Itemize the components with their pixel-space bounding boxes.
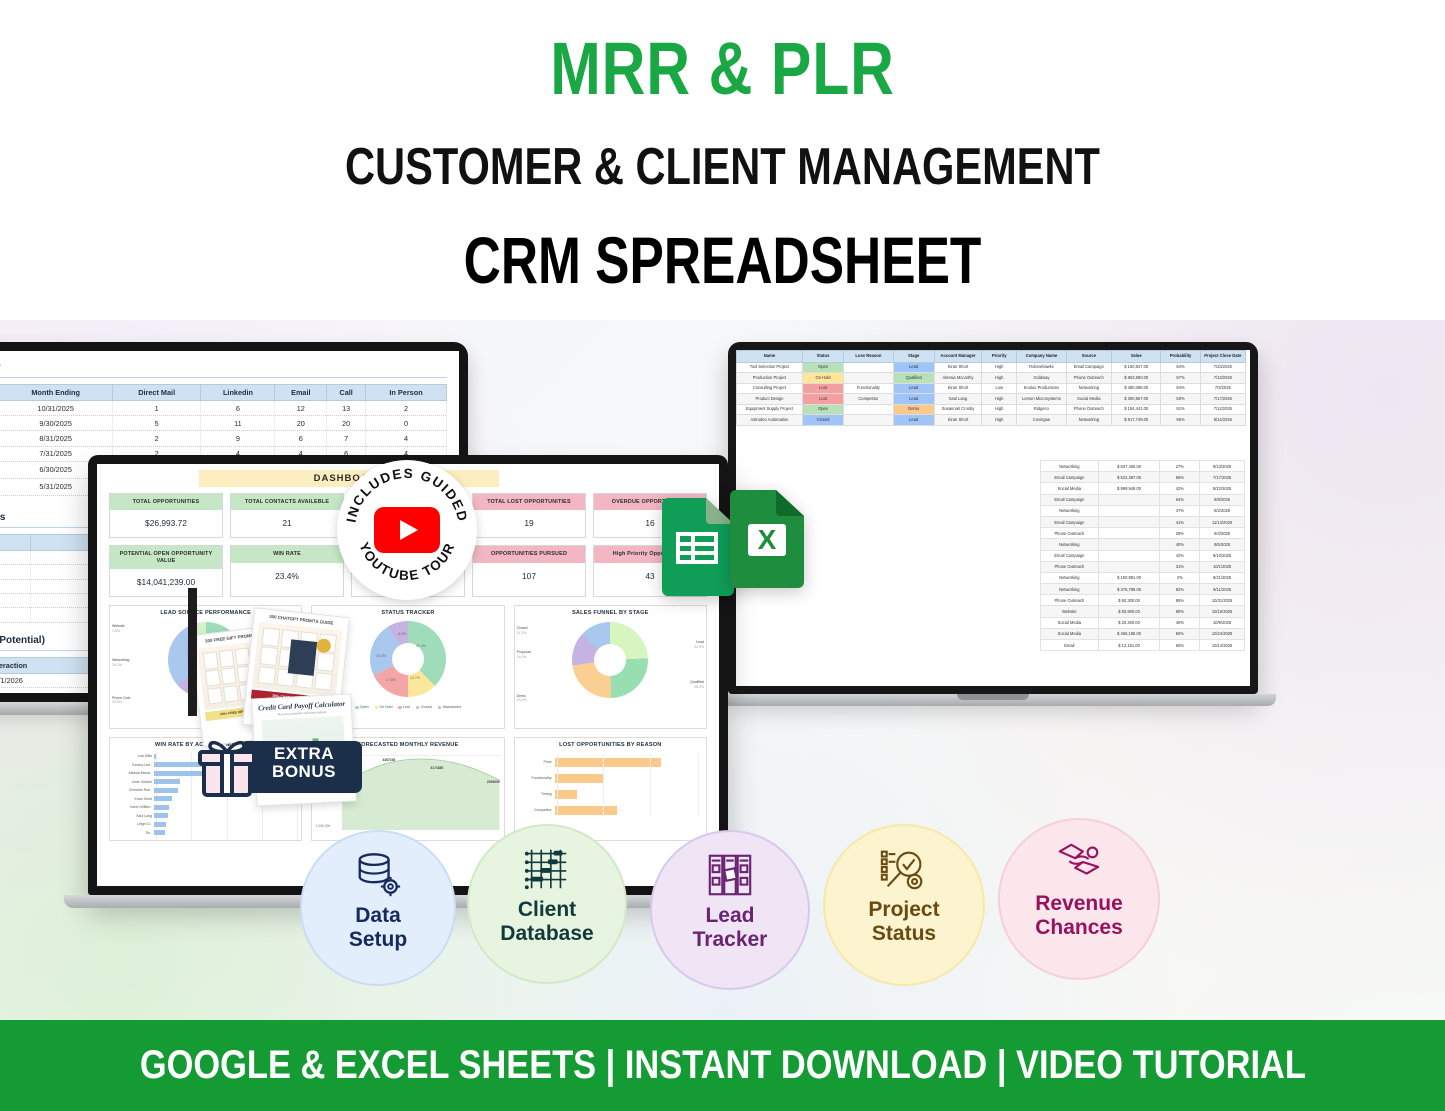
cell-name: Astrodeo Automation	[737, 415, 803, 425]
cell-account-manager: Kiran Short	[934, 415, 981, 425]
cell-priority: High	[982, 362, 1017, 372]
cell-value: $ 853,590.00	[1112, 373, 1161, 383]
table-row[interactable]: Email Campaign$ 522,387.0059%7/17/2025	[1041, 472, 1245, 483]
cell-account-manager: Alessia Mccarthy	[934, 373, 981, 383]
table-row[interactable]: Website$ 83,900.0080%10/19/2025	[1041, 606, 1245, 617]
col-account-manager[interactable]: Account Manager	[934, 351, 981, 363]
table-row[interactable]: Phone Outreach$ 60,300.0095%10/31/2025	[1041, 595, 1245, 606]
table-row[interactable]: Consulting Project Lost Functionality Le…	[737, 383, 1246, 393]
cell-source: Networking	[1066, 415, 1111, 425]
cell-status: Lost	[802, 383, 843, 393]
google-sheets-icon[interactable]	[660, 498, 734, 596]
cell-company: Kooloo Productions	[1017, 383, 1066, 393]
table-row[interactable]: Equipment Supply Project Open Demo Susan…	[737, 404, 1246, 414]
feature-label: Revenue Chances	[1000, 892, 1158, 939]
col-priority[interactable]: Priority	[982, 351, 1017, 363]
kpi-label: TOTAL LOST OPPORTUNITIES	[473, 494, 585, 510]
table-row[interactable]: Email Campaign41%11/13/2025	[1041, 516, 1245, 527]
cell-stage: Lead	[893, 383, 934, 393]
table-row[interactable]: 8/1/20258/31/202529674	[0, 431, 447, 446]
footer-text: GOOGLE & EXCEL SHEETS | INSTANT DOWNLOAD…	[140, 1043, 1306, 1088]
col-loss-reason[interactable]: Loss Reason	[844, 351, 893, 363]
legend-on-hold[interactable]: On Hold	[375, 705, 393, 709]
col-linkedin[interactable]: Linkedin	[201, 385, 275, 401]
feature-lead-tracker[interactable]: Lead Tracker	[650, 830, 810, 990]
bonus-card-preview	[252, 622, 342, 696]
table-row[interactable]: Social Media$ 20,300.0040%10/9/2025	[1041, 617, 1245, 628]
table-row[interactable]: Social Media$ 466,186.0050%10/24/2025	[1041, 628, 1245, 639]
table-row[interactable]: 10/1/202510/31/20251612132	[0, 401, 447, 416]
table-row[interactable]: Product Design Lost Competitor Lead Saul…	[737, 394, 1246, 404]
opportunity-table-body: Tool Selection Project Open Lead Kiran S…	[737, 362, 1246, 425]
col-direct-mail[interactable]: Direct Mail	[112, 385, 201, 401]
col-close-date[interactable]: Project Close Date	[1200, 351, 1245, 363]
donut-wrap: Lead24.3% Qualified25.2% Demo23.2% Propo…	[515, 618, 706, 712]
feature-circles: Data Setup	[0, 818, 1445, 1018]
cell-loss-reason	[844, 415, 893, 425]
cell-probability: 84%	[1161, 362, 1200, 372]
cell-company: Covingae	[1017, 415, 1066, 425]
kpi-card-total-contacts[interactable]: TOTAL CONTACTS AVAILEBLE 21	[230, 493, 344, 538]
svg-text:X: X	[758, 524, 777, 555]
cell-priority: High	[982, 404, 1017, 414]
donut-sales-funnel	[572, 622, 648, 698]
excel-icon[interactable]: X	[730, 490, 804, 588]
extra-bonus-badge[interactable]: EXTRA BONUS	[188, 730, 363, 802]
feature-data-setup[interactable]: Data Setup	[300, 830, 456, 986]
cell-company: Lemon Microsystems	[1017, 394, 1066, 404]
youtube-tour-badge[interactable]: INCLUDES GUIDED YOUTUBE TOUR	[337, 460, 477, 600]
chart-gridlines	[557, 754, 698, 816]
cell-loss-reason	[844, 373, 893, 383]
donut-label-demo: Demo23.2%	[517, 694, 527, 703]
feature-label: Project Status	[825, 898, 983, 945]
cell-close-date: 7/13/2025	[1200, 373, 1245, 383]
bonus-product-stack: 300 FREE GIFT PROMPTS 300+ FREE GIFT PRO…	[196, 610, 336, 800]
listing-image: MRR & PLR CUSTOMER & CLIENT MANAGEMENT C…	[0, 0, 1445, 1111]
table-header-row: Interaction Month Ending Direct Mail Lin…	[0, 385, 447, 401]
cell-close-date: 7/12/2025	[1200, 404, 1245, 414]
cell-account-manager: Kiran Short	[934, 362, 981, 372]
col-status[interactable]: Status	[802, 351, 843, 363]
donut-label-phone-outreach: Phone Outr..23.9%	[112, 696, 132, 705]
kpi-card-opportunities-pursued[interactable]: OPPORTUNITIES PURSUED 107	[472, 545, 586, 597]
cell-probability: 96%	[1161, 415, 1200, 425]
kpi-value: 21	[231, 510, 343, 537]
feature-label: Data Setup	[302, 904, 454, 951]
chart-sales-funnel-by-stage[interactable]: SALES FUNNEL BY STAGE Lead24.3% Qualifie…	[514, 605, 707, 729]
cell-probability: 83%	[1161, 394, 1200, 404]
data-label-3: 3171885	[430, 766, 443, 770]
handshake-money-icon	[1054, 838, 1104, 888]
cell-status: Lost	[802, 394, 843, 404]
cell-account-manager: Saul Lang	[934, 394, 981, 404]
cell-source: Networking	[1066, 383, 1111, 393]
kpi-card-potential-open-value[interactable]: POTENTIAL OPEN OPPORTUNITY VALUE $14,041…	[109, 545, 223, 597]
cell-company: Goldway	[1017, 373, 1066, 383]
donut-value-closed: 23.4%	[376, 654, 386, 658]
table-row[interactable]: Networking$ 837,455.0027%9/13/2025	[1041, 461, 1245, 472]
feature-label: Lead Tracker	[652, 904, 808, 951]
donut-value-abandoned: 8.3%	[398, 632, 406, 636]
cell-priority: High	[982, 373, 1017, 383]
kpi-label: WIN RATE	[231, 546, 343, 562]
cell-close-date: 7/3/2025	[1200, 383, 1245, 393]
table-row[interactable]: Email$ 13,151.0060%10/14/2025	[1041, 640, 1245, 651]
cell-loss-reason	[844, 362, 893, 372]
table-row[interactable]: Social Media$ 999,946.0042%8/22/2025	[1041, 483, 1245, 494]
cell-company: Robinehawks	[1017, 362, 1066, 372]
cell-source: Phone Outreach	[1066, 404, 1111, 414]
cell-priority: High	[982, 394, 1017, 404]
table-row[interactable]: Phone Outreach29%9/4/2025	[1041, 528, 1245, 539]
data-label-4: 2395695	[487, 780, 500, 784]
opportunity-table: Name Status Loss Reason Stage Account Ma…	[736, 350, 1246, 426]
cell-probability: 81%	[1161, 404, 1200, 414]
col-probability[interactable]: Probability	[1161, 351, 1200, 363]
table-row[interactable]: Networking40%9/5/2025	[1041, 539, 1245, 550]
chart-title: LOST OPPORTUNITIES BY REASON	[515, 738, 706, 750]
feature-project-status[interactable]: Project Status	[823, 824, 985, 986]
spreadsheet-grid-icon	[522, 844, 572, 894]
youtube-play-icon[interactable]	[374, 507, 440, 553]
kpi-label: TOTAL CONTACTS AVAILEBLE	[231, 494, 343, 510]
opportunity-table-continuation: Networking$ 837,455.0027%9/13/2025 Email…	[1040, 460, 1245, 700]
table-row[interactable]: 9/1/20259/30/202551120200	[0, 416, 447, 431]
badge-text: EXTRA BONUS	[250, 745, 358, 781]
cell-account-manager: Susannah Crosby	[934, 404, 981, 414]
legend-open[interactable]: Open	[355, 705, 368, 709]
donut-label-closed: Closed11.2%	[517, 626, 528, 635]
cell-probability: 84%	[1161, 383, 1200, 393]
col-value[interactable]: Value	[1112, 351, 1161, 363]
file-type-icons: X	[660, 490, 830, 600]
table-row[interactable]: Networking$ 376,788.0082%9/11/2025	[1041, 584, 1245, 595]
col-email[interactable]: Email	[275, 385, 327, 401]
cell-name: Tool Selection Project	[737, 362, 803, 372]
col-company-name[interactable]: Company Name	[1017, 351, 1066, 363]
page-title: CRM SPREADSHEET	[159, 222, 1286, 298]
cell-close-date: 7/23/2025	[1200, 362, 1245, 372]
table-row[interactable]: Production Project On Hold Qualified Ale…	[737, 373, 1246, 383]
kpi-card-win-rate[interactable]: WIN RATE 23.4%	[230, 545, 344, 597]
device-mockup-stage: Name Status Loss Reason Stage Account Ma…	[0, 320, 1445, 1020]
cell-value: $ 150,847.00	[1112, 362, 1161, 372]
cell-status: Closed	[802, 415, 843, 425]
table-row[interactable]: Email Campaign64%8/9/2025	[1041, 494, 1245, 505]
col-month-ending[interactable]: Month Ending	[0, 385, 112, 401]
col-name[interactable]: Name	[737, 351, 803, 363]
kpi-card-total-opportunities[interactable]: TOTAL OPPORTUNITIES $26,993.72	[109, 493, 223, 538]
cell-source: Email Campaign	[1066, 362, 1111, 372]
cell-stage: Demo	[893, 404, 934, 414]
col-source[interactable]: Source	[1066, 351, 1111, 363]
kpi-value: $14,041,239.00	[110, 569, 222, 596]
donut-label-proposal: Proposal14.0%	[517, 650, 531, 659]
table-row[interactable]: Astrodeo Automation Closed Lead Kiran Sh…	[737, 415, 1246, 425]
cell-priority: High	[982, 415, 1017, 425]
header-subtitle: CUSTOMER & CLIENT MANAGEMENT	[145, 137, 1301, 197]
data-label-2: 3487198	[382, 758, 395, 762]
cell-value: $ 154,441.00	[1112, 404, 1161, 414]
cell-source: Social Media	[1066, 394, 1111, 404]
legend-lost[interactable]: Lost	[398, 705, 409, 709]
donut-label-networking: Networking29.1%	[112, 658, 130, 667]
interaction-tracker-title: Interaction Tracker	[0, 360, 447, 378]
footer-banner: GOOGLE & EXCEL SHEETS | INSTANT DOWNLOAD…	[0, 1020, 1445, 1111]
kanban-board-icon	[705, 850, 755, 900]
cell-value: $ 300,967.00	[1112, 394, 1161, 404]
cell-stage: Lead	[893, 362, 934, 372]
magnifier-gear-icon	[879, 844, 929, 894]
donut-value-lost: 17.8%	[386, 678, 396, 682]
cell-status: Open	[802, 404, 843, 414]
cell-status: On Hold	[802, 373, 843, 383]
kpi-label: POTENTIAL OPEN OPPORTUNITY VALUE	[110, 546, 222, 569]
donut-label-lead: Lead24.3%	[694, 640, 704, 649]
cell-account-manager: Kiran Short	[934, 383, 981, 393]
cell-company: Ridgeco	[1017, 404, 1066, 414]
kpi-label: OPPORTUNITIES PURSUED	[473, 546, 585, 562]
kpi-value: 107	[473, 563, 585, 590]
kpi-value: 23.4%	[231, 563, 343, 590]
badge-stick	[188, 588, 197, 716]
donut-value-open: 37.4%	[416, 644, 426, 648]
cell-value: $ 380,098.00	[1112, 383, 1161, 393]
donut-label-website: Website7.5%	[112, 624, 125, 633]
header-eyebrow: MRR & PLR	[130, 26, 1315, 111]
cell-stage: Qualified	[893, 373, 934, 383]
donut-status-tracker	[370, 621, 446, 697]
donut-value-on-hold: 12.7%	[410, 676, 420, 680]
header: MRR & PLR CUSTOMER & CLIENT MANAGEMENT C…	[0, 0, 1445, 320]
legend-closed[interactable]: Closed	[416, 705, 432, 709]
kpi-value: $26,993.72	[110, 510, 222, 537]
cell-stage: Lead	[893, 415, 934, 425]
col-call[interactable]: Call	[327, 385, 366, 401]
kpi-value: 19	[473, 510, 585, 537]
cell-close-date: 7/17/2025	[1200, 394, 1245, 404]
table-row[interactable]: Tool Selection Project Open Lead Kiran S…	[737, 362, 1246, 372]
feature-client-database[interactable]: Client Database	[467, 824, 627, 984]
col-stage[interactable]: Stage	[893, 351, 934, 363]
laptop-right-notch	[957, 694, 1029, 700]
cell-loss-reason: Functionality	[844, 383, 893, 393]
cell-source: Phone Outreach	[1066, 373, 1111, 383]
table-row[interactable]: Networking$ 150,891.002%8/21/2025	[1041, 572, 1245, 583]
cell-name: Production Project	[737, 373, 803, 383]
donut-label-qualified: Qualified25.2%	[690, 680, 704, 689]
col-stage[interactable]: Stage	[0, 534, 31, 550]
cell-value: $ 917,749.00	[1112, 415, 1161, 425]
cell-loss-reason: Competitor	[844, 394, 893, 404]
table-row[interactable]: Email Campaign42%8/10/2025	[1041, 550, 1245, 561]
gift-box-icon	[196, 736, 258, 798]
cell-name: Product Design	[737, 394, 803, 404]
cell-stage: Lead	[893, 394, 934, 404]
legend-abandoned[interactable]: Abandoned	[438, 705, 461, 709]
cell-probability: 57%	[1161, 373, 1200, 383]
table-row[interactable]: Networking47%8/2/2025	[1041, 505, 1245, 516]
feature-label: Client Database	[469, 898, 625, 945]
cell-status: Open	[802, 362, 843, 372]
table-row[interactable]: Phone Outreach31%10/1/2025	[1041, 561, 1245, 572]
cell-name: Equipment Supply Project	[737, 404, 803, 414]
feature-revenue-chances[interactable]: Revenue Chances	[998, 818, 1160, 980]
cell-priority: Low	[982, 383, 1017, 393]
chart-title: SALES FUNNEL BY STAGE	[515, 606, 706, 618]
opportunity-table-header: Name Status Loss Reason Stage Account Ma…	[737, 351, 1246, 363]
cell-close-date: 8/14/2025	[1200, 415, 1245, 425]
database-gear-icon	[353, 850, 403, 900]
kpi-card-total-lost[interactable]: TOTAL LOST OPPORTUNITIES 19	[472, 493, 586, 538]
cell-name: Consulting Project	[737, 383, 803, 393]
col-in-person[interactable]: In Person	[366, 385, 447, 401]
opportunity-extra-table: Networking$ 837,455.0027%9/13/2025 Email…	[1040, 460, 1245, 651]
cell-loss-reason	[844, 404, 893, 414]
kpi-label: TOTAL OPPORTUNITIES	[110, 494, 222, 510]
